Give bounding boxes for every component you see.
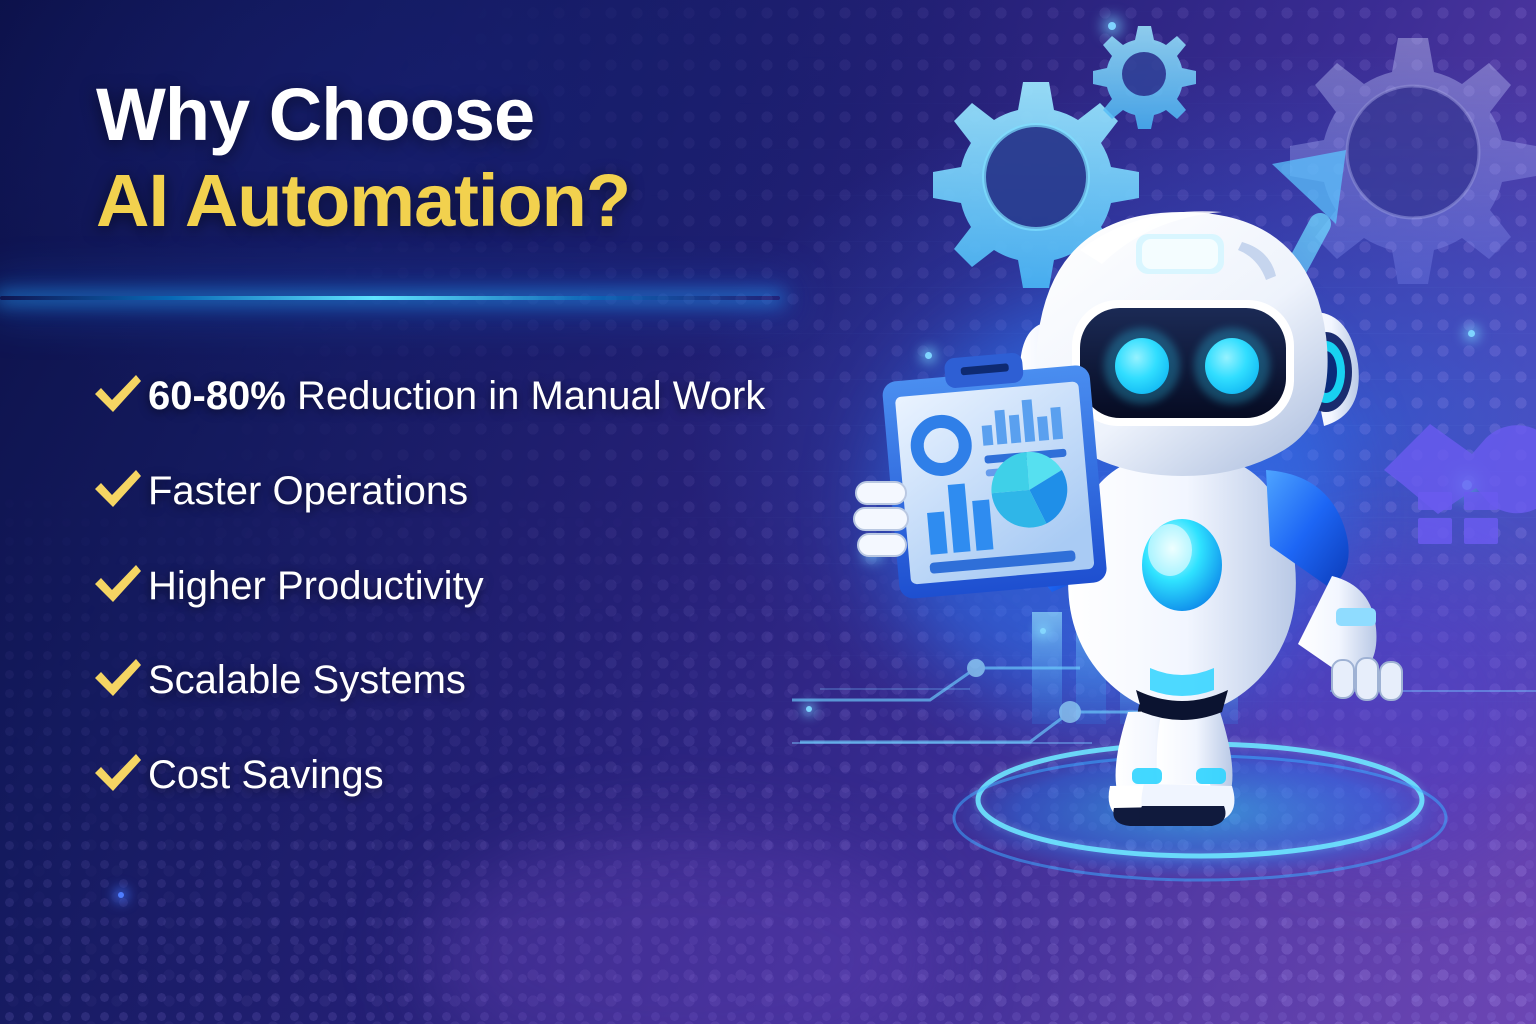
benefits-list: 60-80% Reduction in Manual Work Faster O… (92, 368, 792, 804)
list-item-emphasis: 60-80% (148, 374, 286, 418)
list-item: Cost Savings (92, 747, 792, 804)
robot-hand-left (854, 482, 908, 556)
check-icon (92, 658, 148, 700)
robot-hand (1332, 658, 1402, 700)
check-icon (92, 469, 148, 511)
promo-banner: Why Choose AI Automation? 60-80% Reducti… (0, 0, 1536, 1024)
gear-icon-small (1093, 26, 1196, 129)
list-item: 60-80% Reduction in Manual Work (92, 368, 792, 425)
list-item: Higher Productivity (92, 558, 792, 615)
headline-block: Why Choose AI Automation? (96, 72, 796, 244)
list-item-label: Higher Productivity (148, 558, 484, 615)
sparkle-dot (118, 892, 124, 898)
analytics-clipboard (880, 346, 1108, 599)
list-item: Faster Operations (92, 463, 792, 520)
headline-line-1: Why Choose (96, 72, 796, 158)
list-item: Scalable Systems (92, 652, 792, 709)
settings-arrow-icon (1384, 424, 1536, 514)
list-item-label: Cost Savings (148, 747, 384, 804)
check-icon (92, 374, 148, 416)
list-item-text: Reduction in Manual Work (286, 374, 766, 418)
illustration (780, 0, 1536, 1024)
list-item-label: 60-80% Reduction in Manual Work (148, 368, 765, 425)
list-item-label: Faster Operations (148, 463, 468, 520)
list-item-label: Scalable Systems (148, 652, 466, 709)
check-icon (92, 564, 148, 606)
glow-divider (0, 296, 780, 300)
headline-line-2: AI Automation? (96, 158, 796, 244)
check-icon (92, 753, 148, 795)
